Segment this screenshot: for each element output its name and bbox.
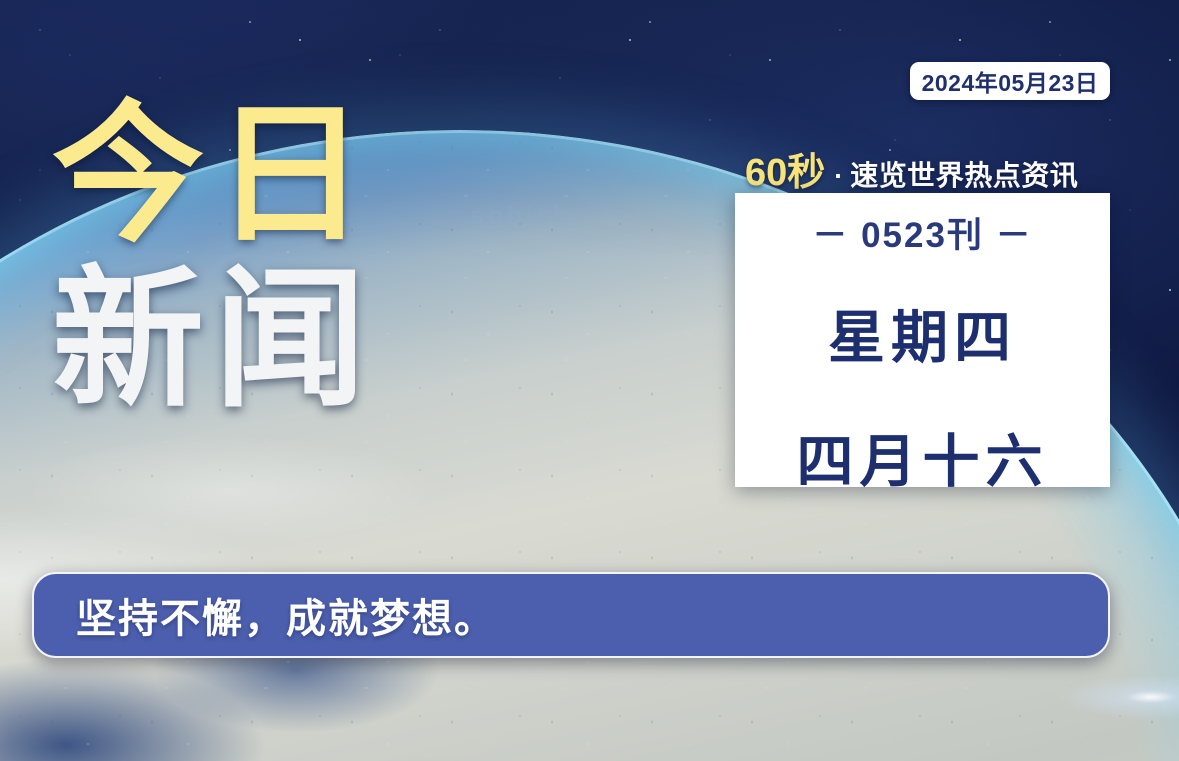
tagline-text: 速览世界热点资讯	[850, 154, 1078, 194]
tagline-separator-dot: ·	[825, 161, 850, 192]
background-watermark: sobick	[470, 200, 570, 231]
lens-flare-star	[1043, 671, 1179, 723]
news-poster: sobick 今日 新闻 2024年05月23日 60秒 · 速览世界热点资讯 …	[0, 0, 1179, 761]
title-line-jinri: 今日	[52, 104, 376, 247]
quote-text: 坚持不懈，成就梦想。	[76, 586, 496, 644]
issue-number: － 0523刊 －	[812, 207, 1032, 258]
tagline: 60秒 · 速览世界热点资讯	[745, 141, 1078, 196]
date-badge: 2024年05月23日	[910, 62, 1110, 100]
date-badge-label: 2024年05月23日	[922, 64, 1099, 98]
poster-title: 今日 新闻	[52, 104, 376, 412]
weekday-label: 星期四	[828, 292, 1017, 374]
tagline-highlight: 60秒	[745, 141, 825, 196]
title-line-xinwen: 新闻	[52, 269, 376, 412]
lunar-date-label: 四月十六	[797, 416, 1049, 498]
quote-banner: 坚持不懈，成就梦想。	[32, 572, 1110, 658]
info-card: － 0523刊 － 星期四 四月十六	[735, 193, 1110, 487]
